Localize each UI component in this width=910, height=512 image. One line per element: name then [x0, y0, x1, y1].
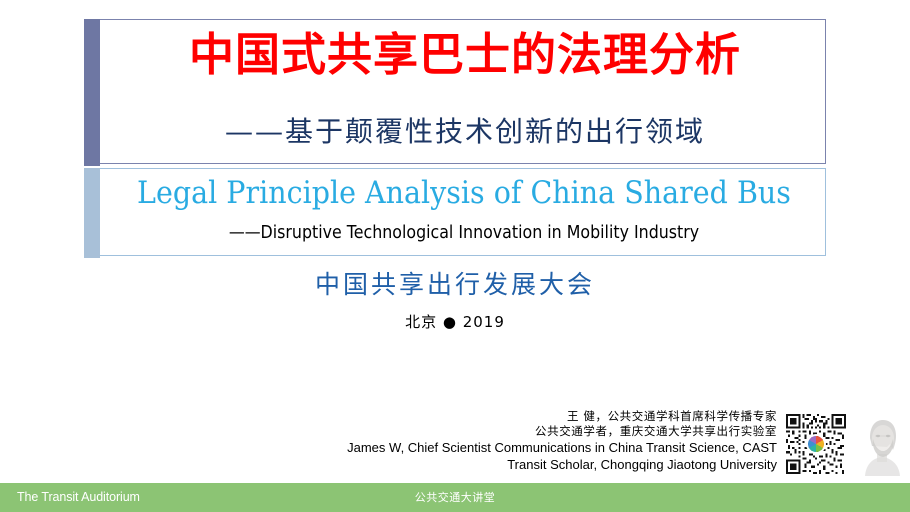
english-box-accent-bar [84, 168, 100, 258]
english-title-box: Legal Principle Analysis of China Shared… [84, 168, 826, 256]
qr-center-logo-icon [808, 436, 824, 452]
slide-footer: 公共交通大讲堂 The Transit Auditorium [0, 483, 910, 512]
author-line-english-2: Transit Scholar, Chongqing Jiaotong Univ… [307, 456, 777, 473]
presentation-slide: 中国式共享巴士的法理分析 ——基于颠覆性技术创新的出行领域 Legal Prin… [0, 0, 910, 512]
speaker-portrait [857, 414, 907, 476]
speaker-portrait-image [857, 414, 907, 476]
slide-subtitle-chinese: ——基于颠覆性技术创新的出行领域 [107, 112, 823, 152]
footer-left-label: The Transit Auditorium [17, 483, 140, 512]
slide-subtitle-english: ——Disruptive Technological Innovation in… [148, 220, 780, 246]
slide-title-english: Legal Principle Analysis of China Shared… [134, 170, 795, 216]
author-credits: 王 健，公共交通学科首席科学传播专家 公共交通学者，重庆交通大学共享出行实验室 … [307, 409, 777, 473]
conference-name: 中国共享出行发展大会 [84, 268, 826, 302]
title-box-accent-bar [84, 19, 100, 166]
venue-and-year: 北京 ● 2019 [84, 311, 826, 333]
author-line-chinese-2: 公共交通学者，重庆交通大学共享出行实验室 [307, 424, 777, 439]
author-line-chinese-1: 王 健，公共交通学科首席科学传播专家 [307, 409, 777, 424]
author-line-english-1: James W, Chief Scientist Communications … [307, 439, 777, 456]
slide-title-chinese: 中国式共享巴士的法理分析 [107, 26, 823, 84]
chinese-title-box: 中国式共享巴士的法理分析 ——基于颠覆性技术创新的出行领域 [84, 19, 826, 164]
qr-code[interactable] [786, 414, 846, 474]
